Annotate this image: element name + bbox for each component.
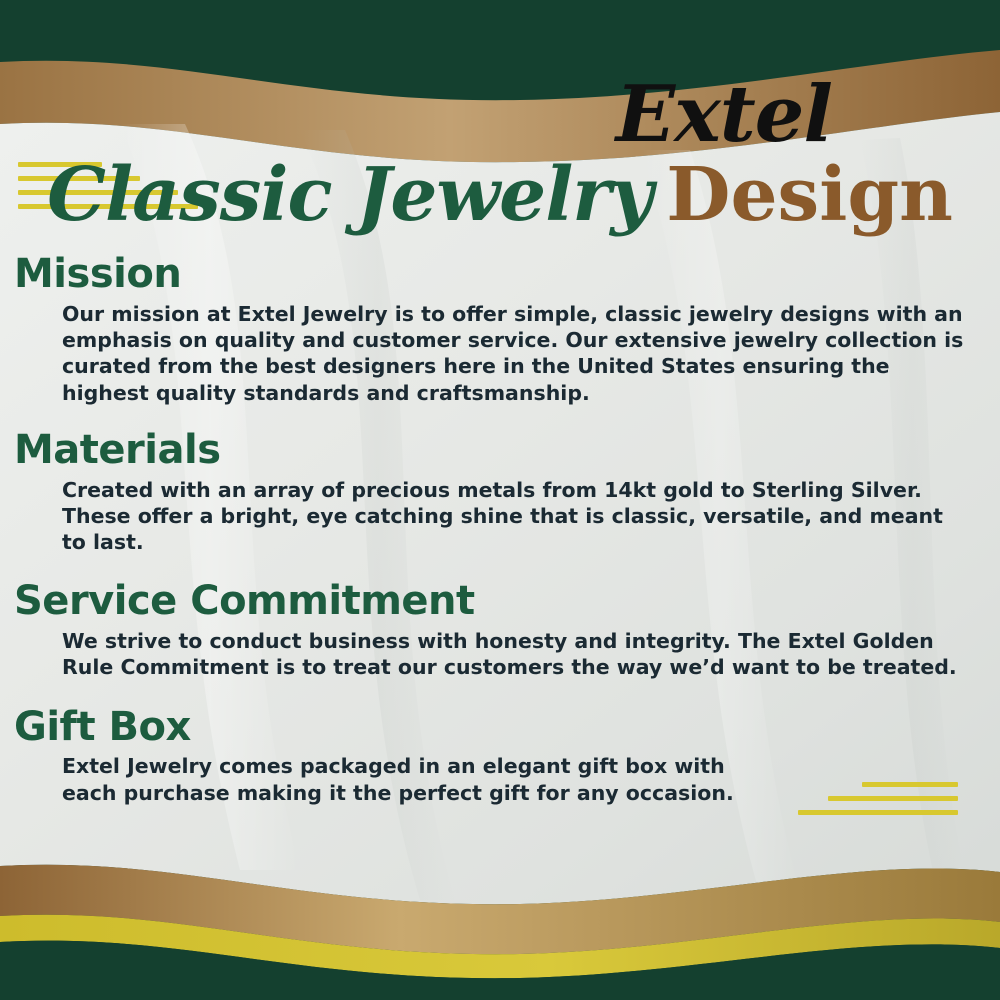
section-body: Extel Jewelry comes packaged in an elega…	[62, 753, 762, 805]
poster-canvas: Extel Classic JewelryDesign Mission Our …	[0, 0, 1000, 1000]
page-title-italic: Classic Jewelry	[47, 152, 652, 238]
page-title-bold: Design	[666, 152, 953, 238]
section-title: Service Commitment	[14, 579, 970, 624]
section-body: We strive to conduct business with hones…	[62, 628, 970, 680]
page-title: Classic JewelryDesign	[0, 152, 1000, 238]
section-body: Our mission at Extel Jewelry is to offer…	[62, 301, 970, 406]
section-title: Gift Box	[14, 705, 970, 750]
sections-list: Mission Our mission at Extel Jewelry is …	[14, 252, 970, 822]
section-title: Materials	[14, 428, 970, 473]
section-body: Created with an array of precious metals…	[62, 477, 970, 556]
section-title: Mission	[14, 252, 970, 297]
brand-logo: Extel	[616, 76, 832, 154]
section-materials: Materials Created with an array of preci…	[14, 428, 970, 556]
section-gift-box: Gift Box Extel Jewelry comes packaged in…	[14, 705, 970, 806]
poster-content: Extel Classic JewelryDesign Mission Our …	[0, 0, 1000, 1000]
section-service-commitment: Service Commitment We strive to conduct …	[14, 579, 970, 680]
section-mission: Mission Our mission at Extel Jewelry is …	[14, 252, 970, 406]
